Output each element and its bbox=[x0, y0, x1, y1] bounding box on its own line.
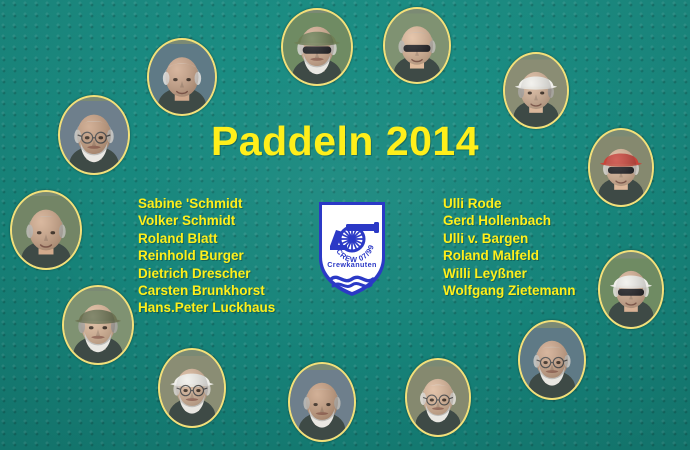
portrait-man-white-beard bbox=[288, 362, 356, 442]
participant-name-left-3: Reinhold Burger bbox=[138, 247, 275, 264]
portrait-image bbox=[290, 364, 354, 440]
portrait-image bbox=[520, 322, 584, 398]
portrait-man-green-cap bbox=[281, 8, 353, 86]
participant-name-right-3: Roland Malfeld bbox=[443, 247, 576, 264]
portrait-image bbox=[160, 350, 224, 426]
portrait-image bbox=[12, 192, 80, 268]
participant-name-right-0: Ulli Rode bbox=[443, 195, 576, 212]
portrait-image bbox=[407, 360, 469, 435]
participant-name-right-5: Wolfgang Zietemann bbox=[443, 282, 576, 299]
participant-name-right-2: Ulli v. Bargen bbox=[443, 230, 576, 247]
portrait-image bbox=[149, 40, 215, 114]
participant-name-right-4: Willi Leyßner bbox=[443, 265, 576, 282]
participant-name-left-4: Dietrich Drescher bbox=[138, 265, 275, 282]
participant-name-left-2: Roland Blatt bbox=[138, 230, 275, 247]
portrait-woman-blonde bbox=[383, 7, 451, 84]
participant-list-left: Sabine 'SchmidtVolker SchmidtRoland Blat… bbox=[138, 195, 275, 317]
club-crest: CREW 07/99 Crewkanuten bbox=[316, 200, 388, 298]
page-title: Paddeln 2014 bbox=[0, 118, 690, 165]
portrait-man-camo-cap bbox=[62, 285, 134, 365]
portrait-man-sunglasses-cap bbox=[598, 250, 664, 329]
portrait-man-grey-hair bbox=[147, 38, 217, 116]
portrait-man-glasses-red bbox=[518, 320, 586, 400]
portrait-image bbox=[505, 54, 567, 127]
portrait-man-bald-beard bbox=[405, 358, 471, 437]
crest-label: Crewkanuten bbox=[327, 260, 377, 269]
participant-name-left-1: Volker Schmidt bbox=[138, 212, 275, 229]
participant-name-left-6: Hans.Peter Luckhaus bbox=[138, 299, 275, 316]
portrait-image bbox=[64, 287, 132, 363]
portrait-man-flowers bbox=[10, 190, 82, 270]
participant-name-left-0: Sabine 'Schmidt bbox=[138, 195, 275, 212]
paddeln-2014-poster: Paddeln 2014 Sabine 'SchmidtVolker Schmi… bbox=[0, 0, 690, 450]
participant-list-right: Ulli RodeGerd HollenbachUlli v. BargenRo… bbox=[443, 195, 576, 299]
portrait-image bbox=[385, 9, 449, 82]
portrait-image bbox=[600, 252, 662, 327]
portrait-image bbox=[283, 10, 351, 84]
portrait-man-white-bandana bbox=[158, 348, 226, 428]
participant-name-right-1: Gerd Hollenbach bbox=[443, 212, 576, 229]
participant-name-left-5: Carsten Brunkhorst bbox=[138, 282, 275, 299]
